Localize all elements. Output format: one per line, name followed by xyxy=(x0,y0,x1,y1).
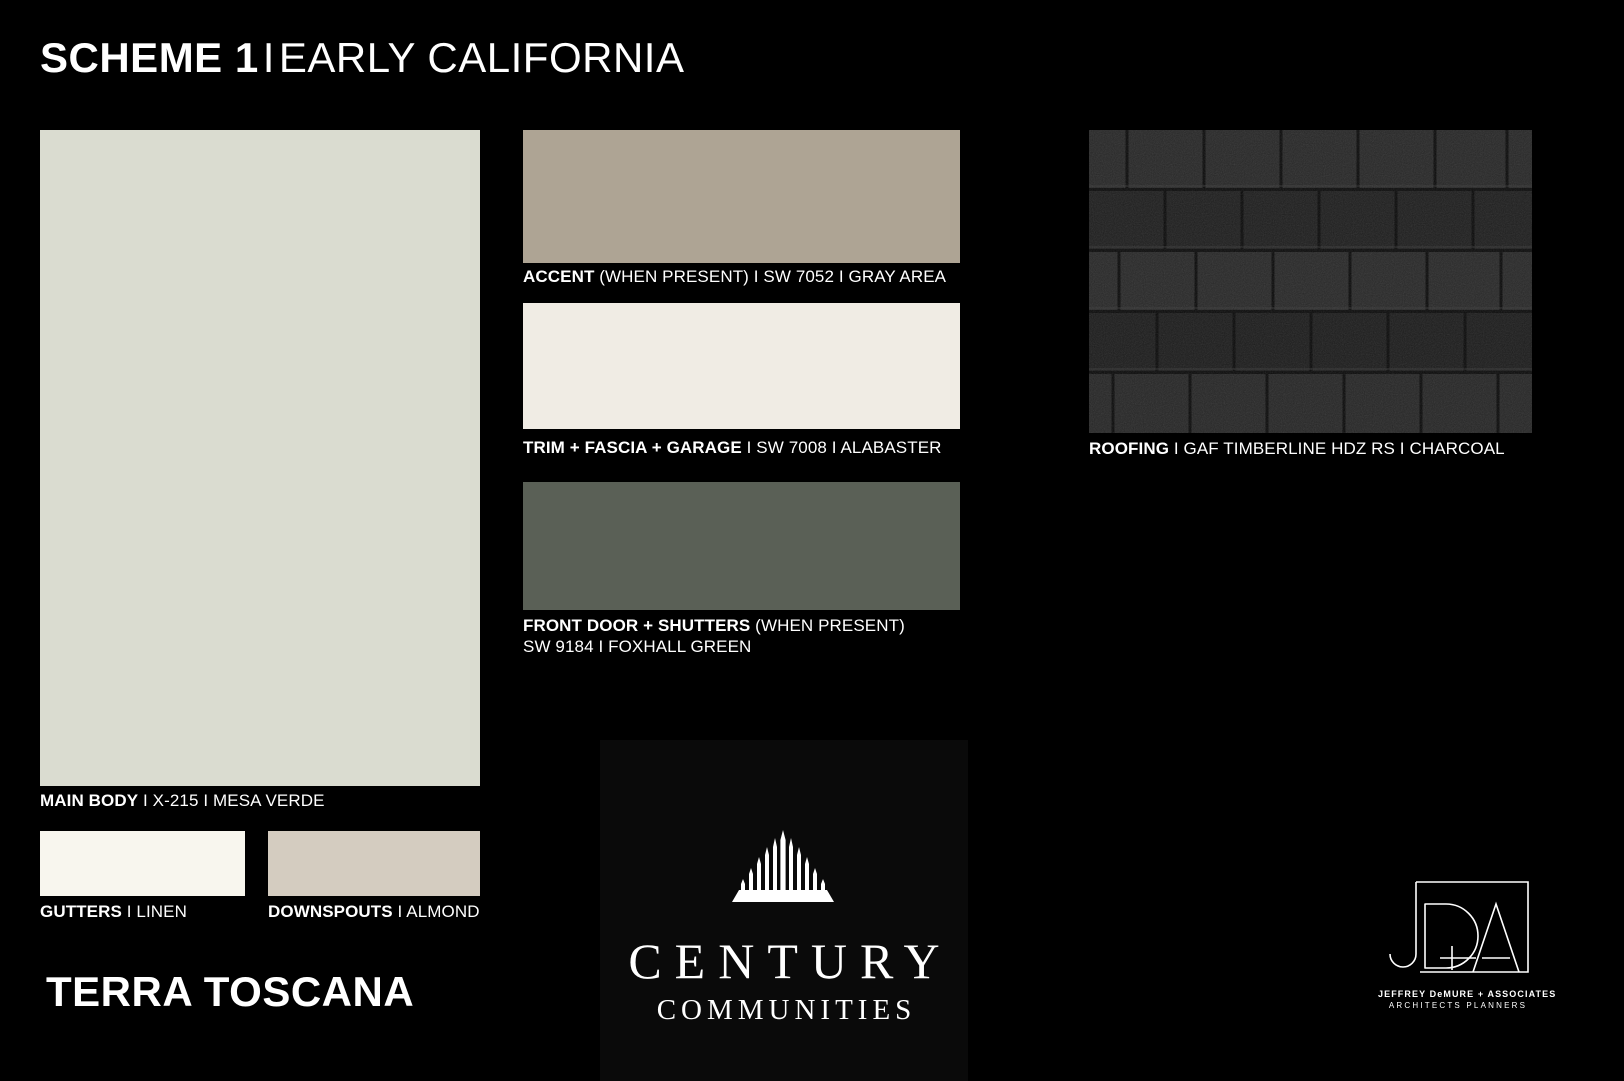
swatch-gutters xyxy=(40,831,245,896)
jda-tagline-primary: JEFFREY DeMURE + ASSOCIATES xyxy=(1378,989,1538,999)
jda-monogram-icon xyxy=(1378,868,1538,986)
swatch-label-front-door: FRONT DOOR + SHUTTERS (WHEN PRESENT) SW … xyxy=(523,615,905,657)
color-scheme-board: SCHEME 1IEARLY CALIFORNIA MAIN BODY I X-… xyxy=(0,0,1624,1081)
front-door-detail: (WHEN PRESENT) xyxy=(750,616,905,635)
gutters-detail: I LINEN xyxy=(122,902,187,921)
trim-name: TRIM + FASCIA + GARAGE xyxy=(523,438,742,457)
main-body-name: MAIN BODY xyxy=(40,791,138,810)
swatch-trim xyxy=(523,303,960,429)
swatch-front-door xyxy=(523,482,960,610)
jda-tagline-secondary: ARCHITECTS PLANNERS xyxy=(1378,1001,1538,1010)
swatch-label-downspouts: DOWNSPOUTS I ALMOND xyxy=(268,901,480,922)
swatch-label-trim: TRIM + FASCIA + GARAGE I SW 7008 I ALABA… xyxy=(523,437,942,458)
swatch-accent xyxy=(523,130,960,263)
swatch-label-main-body: MAIN BODY I X-215 I MESA VERDE xyxy=(40,790,325,811)
accent-detail: (WHEN PRESENT) I SW 7052 I GRAY AREA xyxy=(594,267,946,286)
century-wordmark: CENTURY xyxy=(615,932,952,990)
trim-detail: I SW 7008 I ALABASTER xyxy=(742,438,942,457)
swatch-label-roofing: ROOFING I GAF TIMBERLINE HDZ RS I CHARCO… xyxy=(1089,438,1505,459)
century-building-icon xyxy=(719,828,849,906)
jda-logo: JEFFREY DeMURE + ASSOCIATES ARCHITECTS P… xyxy=(1378,868,1538,1013)
community-name: TERRA TOSCANA xyxy=(46,968,414,1016)
swatch-main-body xyxy=(40,130,480,786)
page-title: SCHEME 1IEARLY CALIFORNIA xyxy=(40,34,684,82)
scheme-number: SCHEME 1 xyxy=(40,34,259,81)
scheme-name: EARLY CALIFORNIA xyxy=(279,34,685,81)
swatch-label-gutters: GUTTERS I LINEN xyxy=(40,901,187,922)
front-door-name: FRONT DOOR + SHUTTERS xyxy=(523,616,750,635)
swatch-downspouts xyxy=(268,831,480,896)
gutters-name: GUTTERS xyxy=(40,902,122,921)
roofing-name: ROOFING xyxy=(1089,439,1169,458)
century-subwordmark: COMMUNITIES xyxy=(652,994,917,1027)
century-communities-logo: CENTURY COMMUNITIES xyxy=(600,740,968,1081)
main-body-detail: I X-215 I MESA VERDE xyxy=(138,791,324,810)
swatch-label-accent: ACCENT (WHEN PRESENT) I SW 7052 I GRAY A… xyxy=(523,266,946,287)
front-door-detail-line2: SW 9184 I FOXHALL GREEN xyxy=(523,636,905,657)
title-separator: I xyxy=(259,34,279,81)
downspouts-detail: I ALMOND xyxy=(393,902,480,921)
accent-name: ACCENT xyxy=(523,267,594,286)
downspouts-name: DOWNSPOUTS xyxy=(268,902,393,921)
swatch-roofing xyxy=(1089,130,1532,433)
roofing-detail: I GAF TIMBERLINE HDZ RS I CHARCOAL xyxy=(1169,439,1505,458)
shingle-texture xyxy=(1089,130,1532,433)
